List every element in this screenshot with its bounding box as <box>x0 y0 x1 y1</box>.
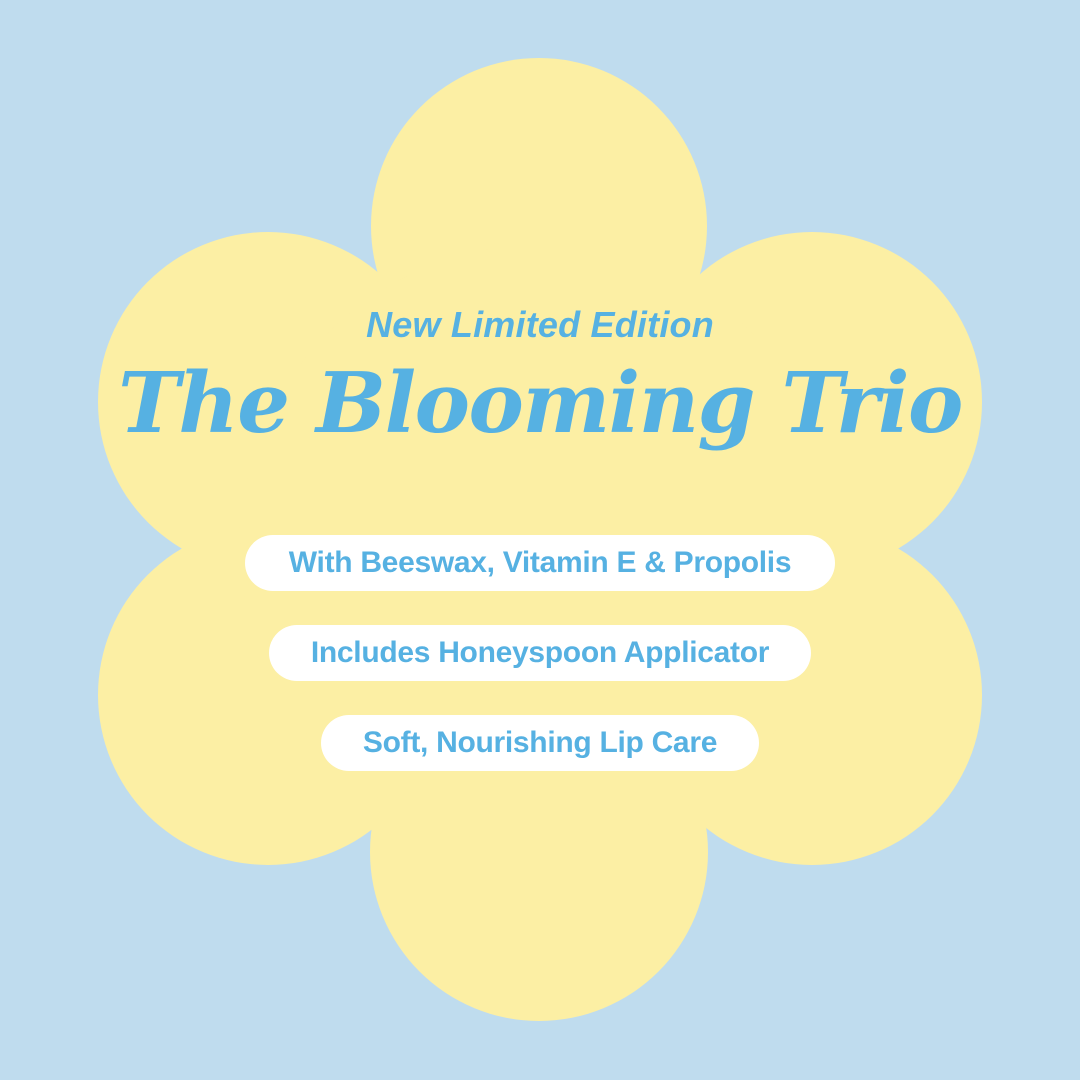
feature-pill-beeswax: With Beeswax, Vitamin E & Propolis <box>245 535 835 591</box>
promo-poster: New Limited Edition The Blooming Trio Wi… <box>0 0 1080 1080</box>
page-title: The Blooming Trio <box>118 362 962 445</box>
feature-pill-lipcare: Soft, Nourishing Lip Care <box>321 715 759 771</box>
poster-content: New Limited Edition The Blooming Trio Wi… <box>0 0 1080 1080</box>
feature-pill-list: With Beeswax, Vitamin E & Propolis Inclu… <box>0 535 1080 771</box>
feature-pill-applicator: Includes Honeyspoon Applicator <box>269 625 811 681</box>
eyebrow-label: New Limited Edition <box>366 307 714 343</box>
